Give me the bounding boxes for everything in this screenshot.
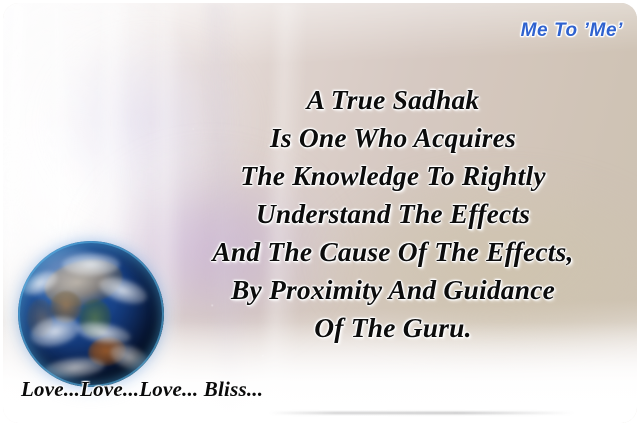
- footer-tagline: Love...Love...Love... Bliss...: [21, 377, 263, 401]
- quote-line: Is One Who Acquires: [153, 119, 633, 157]
- poster-frame: Me To ’Me’ A True Sadhak Is One Who Acqu…: [3, 3, 637, 423]
- quote-line: And The Cause Of The Effects,: [153, 233, 633, 271]
- quote-block: A True Sadhak Is One Who Acquires The Kn…: [153, 81, 633, 347]
- quote-line: Of The Guru.: [153, 309, 633, 347]
- quote-line: A True Sadhak: [153, 81, 633, 119]
- globe-sphere: [18, 241, 164, 387]
- earth-globe: [18, 241, 164, 387]
- quote-line: By Proximity And Guidance: [153, 271, 633, 309]
- brand-label: Me To ’Me’: [521, 20, 623, 42]
- quote-line: Understand The Effects: [153, 195, 633, 233]
- inspirational-quote-poster: Me To ’Me’ A True Sadhak Is One Who Acqu…: [0, 0, 640, 426]
- background-hairline-artifact: [269, 412, 573, 414]
- quote-line: The Knowledge To Rightly: [153, 157, 633, 195]
- globe-atmosphere-rim: [18, 241, 164, 387]
